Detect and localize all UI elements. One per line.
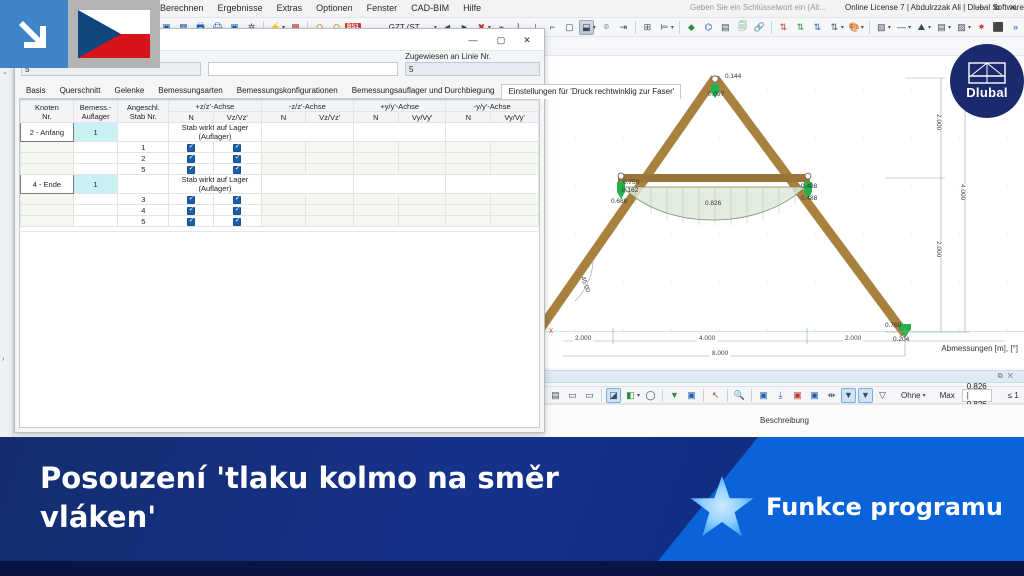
cell-check-pz-n[interactable] <box>169 142 214 153</box>
menu-item-cad-bim[interactable]: CAD-BIM <box>411 3 449 13</box>
axis-chevron-down-icon[interactable]: ▾ <box>841 24 844 31</box>
cell-empty <box>446 164 491 175</box>
toolbar-separator <box>662 389 663 402</box>
banner-title: Posouzení 'tlaku kolmo na směr vláken' <box>40 459 640 537</box>
solid-icon[interactable]: ▢ <box>562 20 577 35</box>
results-min-icon[interactable]: ▣ <box>807 388 822 403</box>
cell-empty <box>491 164 539 175</box>
settings-grid: Knoten Nr. Bemess.- Auflager Angeschl. S… <box>20 100 539 232</box>
cell-empty <box>446 123 539 142</box>
color-picker-icon[interactable]: 🎨 <box>847 20 862 35</box>
cell-support[interactable]: 1 <box>73 123 118 142</box>
dialog-tab-bar: Basis Querschnitt Gelenke Bemessungsarte… <box>19 82 540 99</box>
col-plus-y-achse: +y/y'-Achse <box>354 101 446 112</box>
surface-icon[interactable]: ⌐ <box>545 20 560 35</box>
axis-all-icon[interactable]: ⇅ <box>827 20 842 35</box>
dlubal-truss-icon <box>967 62 1007 84</box>
cell-member[interactable]: 5 <box>118 164 169 175</box>
star-icon <box>686 473 758 543</box>
cell-empty <box>261 153 306 164</box>
field-name <box>208 51 398 81</box>
cell-check-pz-n[interactable] <box>169 205 214 216</box>
arrow-overlay-box <box>0 0 68 68</box>
cell-empty <box>398 216 446 227</box>
cell-empty <box>261 194 306 205</box>
vertical-dimension-lines <box>885 78 969 332</box>
result-label-right-node: 0.488 <box>801 183 817 190</box>
cell-empty <box>306 216 354 227</box>
col-mz-n: N <box>261 112 306 123</box>
table-row[interactable]: 5 <box>21 164 539 175</box>
results-diagram-icon[interactable]: ▭ <box>565 388 580 403</box>
grid-body: 2 - Anfang 1 Stab wirkt auf Lager (Aufla… <box>21 123 539 232</box>
dimension-right-span: 2.000 <box>843 335 863 342</box>
cell-empty <box>446 205 491 216</box>
table-row[interactable]: 1 <box>21 142 539 153</box>
checkbox-checked-icon[interactable] <box>233 155 241 163</box>
design-support-dialog[interactable]: — ▢ ✕ 5 Zugewiesen an Linie Nr. 5 <box>14 28 545 433</box>
group-icon[interactable]: ⛰ <box>914 20 929 35</box>
checkbox-checked-icon[interactable] <box>187 207 195 215</box>
col-pz-n: N <box>169 112 214 123</box>
axis-z-icon[interactable]: ⇅ <box>810 20 825 35</box>
display-chevron-down-icon[interactable]: ▾ <box>888 24 891 31</box>
dialog-minimize-button[interactable]: — <box>460 32 486 48</box>
material-icon[interactable]: ◆ <box>684 20 699 35</box>
checkbox-checked-icon[interactable] <box>187 144 195 152</box>
toolbar-separator <box>751 389 752 402</box>
tab-druck-rechtwinklig-zur-faser[interactable]: Einstellungen für 'Druck rechtwinklig zu… <box>501 84 681 99</box>
cell-empty <box>398 194 446 205</box>
menu-item-extras[interactable]: Extras <box>277 3 303 13</box>
cell-empty <box>261 175 353 194</box>
results-iso-icon[interactable]: ◯ <box>643 388 658 403</box>
table-row[interactable]: 3 <box>21 194 539 205</box>
results-pick-icon[interactable]: ↖ <box>708 388 723 403</box>
cell-node <box>21 205 74 216</box>
left-dock-strip[interactable]: › ⌄ › <box>0 56 14 437</box>
thickness-icon[interactable]: ▤ <box>718 20 733 35</box>
cell-empty <box>354 123 446 142</box>
color-chevron-down-icon[interactable]: ▾ <box>861 24 864 31</box>
tab-gelenke[interactable]: Gelenke <box>107 83 151 98</box>
checkbox-checked-icon[interactable] <box>187 196 195 204</box>
col-angeschl-stab: Angeschl. Stab Nr. <box>118 101 169 123</box>
copy-model-icon[interactable]: 🗐 <box>735 20 750 35</box>
cell-empty <box>491 153 539 164</box>
cell-member[interactable]: 5 <box>118 216 169 227</box>
checkbox-checked-icon[interactable] <box>233 218 241 226</box>
cell-empty <box>491 194 539 205</box>
support-chevron-down-icon[interactable]: ▾ <box>593 24 596 31</box>
cell-empty <box>354 153 399 164</box>
axis-x-icon[interactable]: ⇅ <box>776 20 791 35</box>
dimension-upper-height: 2.000 <box>935 114 942 130</box>
render-solid-icon[interactable]: ⬛ <box>991 20 1006 35</box>
cell-check-pz-n[interactable] <box>169 164 214 175</box>
checkbox-checked-icon[interactable] <box>233 144 241 152</box>
dimension-total-height: 4.000 <box>959 184 966 200</box>
cell-member[interactable]: 4 <box>118 205 169 216</box>
filter-view-icon[interactable]: ▨ <box>954 20 969 35</box>
toolbar-separator <box>601 389 602 402</box>
results-toolbar: ▤ ▭ ▭ ◪ ◧ ▾ ◯ ▼ ▣ ↖ 🔍 ▣ ⤓ ▣ ▣ ⇹ ▼ ▼ ▽ Oh… <box>545 386 1024 404</box>
cell-member[interactable]: 1 <box>118 142 169 153</box>
rfem-main-window: Berechnen Ergebnisse Extras Optionen Fen… <box>0 0 1024 437</box>
result-label-ridge-bottom: 0.097 <box>708 91 724 98</box>
cell-member[interactable]: 3 <box>118 194 169 205</box>
menu-item-berechnen[interactable]: Berechnen <box>160 3 204 13</box>
results-filter-none-icon[interactable]: ▽ <box>875 388 890 403</box>
results-colorscale-icon[interactable]: ◧ <box>623 388 638 403</box>
cell-support[interactable]: 1 <box>73 175 118 194</box>
field-assigned-line-input[interactable]: 5 <box>405 62 540 76</box>
description-bar: Beschreibung <box>545 404 1024 437</box>
col-plus-z-achse: +z/z'-Achse <box>169 101 261 112</box>
display-mode-icon[interactable]: ▧ <box>874 20 889 35</box>
results-colorscale-chevron-down-icon[interactable]: ▾ <box>637 392 640 399</box>
field-assigned-line: Zugewiesen an Linie Nr. 5 <box>405 51 540 81</box>
cell-support <box>73 153 118 164</box>
cell-empty <box>354 142 399 153</box>
flag-overlay-box <box>68 0 160 68</box>
flag-blue-triangle <box>78 10 121 58</box>
results-extreme-icon[interactable]: ⤓ <box>773 388 788 403</box>
tab-bemessungsauflager-durchbiegung[interactable]: Bemessungsauflager und Durchbiegung <box>345 83 502 98</box>
results-filter-icon[interactable]: ▼ <box>667 388 682 403</box>
czech-flag-icon <box>78 10 150 58</box>
table-row[interactable]: 4 - Ende 1 Stab wirkt auf Lager (Auflage… <box>21 175 539 194</box>
checkbox-checked-icon[interactable] <box>233 166 241 174</box>
cell-node[interactable]: 2 - Anfang <box>21 123 74 142</box>
dimension-total-span: 8.000 <box>710 350 730 357</box>
table-row[interactable]: 4 <box>21 205 539 216</box>
arrow-down-right-icon <box>15 15 53 53</box>
cell-support <box>73 216 118 227</box>
cell-support <box>73 194 118 205</box>
field-name-input[interactable] <box>208 62 398 76</box>
result-label-midspan: 0.826 <box>705 200 721 207</box>
results-filter-settings-icon[interactable]: ▣ <box>684 388 699 403</box>
result-label-base-right-a: 0.760 <box>885 322 901 329</box>
cell-node <box>21 153 74 164</box>
tab-bemessungsarten[interactable]: Bemessungsarten <box>151 83 229 98</box>
cell-empty <box>261 123 353 142</box>
screenshot-root: Berechnen Ergebnisse Extras Optionen Fen… <box>0 0 1024 576</box>
toolbar-separator <box>679 21 680 34</box>
table-row[interactable]: 2 <box>21 153 539 164</box>
col-minus-z-achse: -z/z'-Achse <box>261 101 353 112</box>
dock-expand-bottom-icon[interactable]: › <box>2 356 4 363</box>
checkbox-checked-icon[interactable] <box>233 207 241 215</box>
cell-check-pz-v[interactable] <box>213 194 261 205</box>
filter-chevron-down-icon[interactable]: ▾ <box>968 24 971 31</box>
results-mode-selector[interactable]: Ohne <box>897 391 925 400</box>
cell-empty <box>261 142 306 153</box>
banner-subtitle: Funkce programu <box>766 493 1003 521</box>
cell-empty <box>354 194 399 205</box>
axis-y-icon[interactable]: ⇅ <box>793 20 808 35</box>
cell-empty <box>354 205 399 216</box>
panel-controls[interactable]: ⧉✕ <box>998 373 1018 381</box>
dialog-close-button[interactable]: ✕ <box>514 32 540 48</box>
dimension-mid-span: 4.000 <box>697 335 717 342</box>
col-mz-vz: Vz/Vz' <box>306 112 354 123</box>
dock-collapse-icon[interactable]: ⌄ <box>2 68 8 76</box>
toolbar-separator <box>869 21 870 34</box>
dimension-chevron-down-icon[interactable]: ▾ <box>671 24 674 31</box>
cell-empty <box>491 216 539 227</box>
results-graphic-icon[interactable]: ◪ <box>606 388 621 403</box>
cell-support <box>73 205 118 216</box>
results-section-icon[interactable]: ▭ <box>582 388 597 403</box>
results-max-icon[interactable]: ▣ <box>790 388 805 403</box>
cell-check-pz-n[interactable] <box>169 194 214 205</box>
visibility-icon[interactable]: ▤ <box>934 20 949 35</box>
result-label-base-right-b: 0.204 <box>893 336 909 343</box>
results-search-icon[interactable]: 🔍 <box>732 388 747 403</box>
cell-support <box>73 142 118 153</box>
results-value-icon[interactable]: ▣ <box>756 388 771 403</box>
col-my-vy: Vy/Vy' <box>491 112 539 123</box>
field-name-label <box>208 51 398 62</box>
cell-check-pz-n[interactable] <box>169 216 214 227</box>
table-row[interactable]: 2 - Anfang 1 Stab wirkt auf Lager (Aufla… <box>21 123 539 142</box>
dlubal-logo: Dlubal <box>950 44 1024 118</box>
tab-basis[interactable]: Basis <box>19 83 53 98</box>
support-settings-table[interactable]: Knoten Nr. Bemess.- Auflager Angeschl. S… <box>19 99 540 428</box>
cell-empty <box>398 142 446 153</box>
panel-splitter[interactable]: ⧉✕ <box>545 370 1024 383</box>
dimension-icon[interactable]: ⊨ <box>657 20 672 35</box>
cell-empty <box>306 194 354 205</box>
more-tools-icon[interactable]: » <box>1008 20 1023 35</box>
cell-support <box>73 164 118 175</box>
quick-search-input[interactable]: Geben Sie ein Schlüsselwort ein (Alt... <box>690 3 830 15</box>
cell-empty <box>446 175 539 194</box>
menu-item-ergebnisse[interactable]: Ergebnisse <box>218 3 263 13</box>
col-my-n: N <box>446 112 491 123</box>
line-style-icon[interactable]: — <box>894 20 909 35</box>
cell-empty <box>261 205 306 216</box>
col-knoten-nr: Knoten Nr. <box>21 101 74 123</box>
cell-node <box>21 216 74 227</box>
col-bemess-auflager: Bemess.- Auflager <box>73 101 118 123</box>
cell-check-pz-n[interactable] <box>169 153 214 164</box>
cell-empty <box>446 142 491 153</box>
hinge-icon[interactable]: ⌾ <box>599 20 614 35</box>
table-row[interactable]: 5 <box>21 216 539 227</box>
checkbox-checked-icon[interactable] <box>233 196 241 204</box>
tab-bemessungskonfigurationen[interactable]: Bemessungskonfigurationen <box>230 83 345 98</box>
tab-querschnitt[interactable]: Querschnitt <box>53 83 108 98</box>
menu-item-fenster[interactable]: Fenster <box>367 3 398 13</box>
col-pz-vz: Vz/Vz' <box>213 112 261 123</box>
cell-empty <box>306 164 354 175</box>
cell-empty <box>354 175 446 194</box>
toolbar-separator <box>635 21 636 34</box>
dimension-left-span: 2.000 <box>573 335 593 342</box>
results-table-icon[interactable]: ▤ <box>548 388 563 403</box>
model-viewport[interactable]: x <box>545 56 1024 368</box>
toolbar-separator <box>771 21 772 34</box>
grid-header-row-1: Knoten Nr. Bemess.- Auflager Angeschl. S… <box>21 101 539 112</box>
cell-empty <box>446 194 491 205</box>
cell-check-pz-v[interactable] <box>213 153 261 164</box>
cell-empty <box>446 216 491 227</box>
cell-empty <box>398 164 446 175</box>
menu-item-list: Berechnen Ergebnisse Extras Optionen Fen… <box>160 3 481 13</box>
dialog-maximize-button[interactable]: ▢ <box>488 32 514 48</box>
description-title: Beschreibung <box>545 416 1024 425</box>
col-py-n: N <box>354 112 399 123</box>
cell-node <box>21 194 74 205</box>
checkbox-checked-icon[interactable] <box>187 218 195 226</box>
checkbox-checked-icon[interactable] <box>187 166 195 174</box>
cell-check-pz-v[interactable] <box>213 164 261 175</box>
cell-empty <box>306 153 354 164</box>
menu-item-optionen[interactable]: Optionen <box>316 3 353 13</box>
col-py-vy: Vy/Vy' <box>398 112 446 123</box>
results-max-value: 0.826 | 0.826 <box>962 389 992 402</box>
cell-empty <box>491 205 539 216</box>
cell-empty <box>354 164 399 175</box>
grid-head: Knoten Nr. Bemess.- Auflager Angeschl. S… <box>21 101 539 123</box>
result-label-left-node-b: 0.162 <box>622 187 638 194</box>
table-row[interactable] <box>21 227 539 232</box>
cell-empty <box>354 216 399 227</box>
section-icon[interactable]: ⌬ <box>701 20 716 35</box>
results-limit-label: ≤ 1 <box>1004 391 1023 400</box>
cell-check-pz-v[interactable] <box>213 205 261 216</box>
nodal-release-icon[interactable]: ⇥ <box>616 20 631 35</box>
cell-empty <box>306 142 354 153</box>
cell-check-pz-v[interactable] <box>213 216 261 227</box>
results-scale-icon[interactable]: ⇹ <box>824 388 839 403</box>
results-filter-max-icon[interactable]: ▼ <box>841 388 856 403</box>
mesh-icon[interactable]: ⊞ <box>640 20 655 35</box>
cell-spacer <box>21 227 539 232</box>
cell-node[interactable]: 4 - Ende <box>21 175 74 194</box>
result-label-right-support: 0.488 <box>801 195 817 202</box>
cell-empty <box>398 205 446 216</box>
result-label-ridge-top: 0.144 <box>725 73 741 80</box>
results-max-label: Max <box>936 391 959 400</box>
cell-empty <box>261 164 306 175</box>
results-mode-chevron-down-icon[interactable]: ▾ <box>923 392 926 399</box>
cell-empty <box>491 142 539 153</box>
cell-member <box>118 175 169 194</box>
dimension-lower-height: 2.000 <box>935 241 942 257</box>
menu-item-hilfe[interactable]: Hilfe <box>463 3 481 13</box>
cell-check-pz-v[interactable] <box>213 142 261 153</box>
clear-selection-icon[interactable]: ✷ <box>974 20 989 35</box>
col-minus-y-achse: -y/y'-Achse <box>446 101 539 112</box>
result-label-left-node-a: 0.750 <box>623 179 639 186</box>
results-filter-range-icon[interactable]: ▼ <box>858 388 873 403</box>
checkbox-checked-icon[interactable] <box>187 155 195 163</box>
support-icon[interactable]: ⬓ <box>579 20 594 35</box>
truss-model-svg <box>545 56 1024 368</box>
bottom-banner: Posouzení 'tlaku kolmo na směr vláken' F… <box>0 437 1024 576</box>
visibility-chevron-down-icon[interactable]: ▾ <box>948 24 951 31</box>
cell-empty <box>261 216 306 227</box>
toolbar-separator <box>727 389 728 402</box>
group-chevron-down-icon[interactable]: ▾ <box>928 24 931 31</box>
toolbar-separator <box>703 389 704 402</box>
dimension-unit-note: Abmessungen [m], [°] <box>941 344 1018 353</box>
dlubal-logo-text: Dlubal <box>966 85 1008 100</box>
cell-empty <box>446 153 491 164</box>
result-label-left-support: 0.688 <box>611 198 627 205</box>
field-assigned-line-label: Zugewiesen an Linie Nr. <box>405 51 540 62</box>
line-style-chevron-down-icon[interactable]: ▾ <box>908 24 911 31</box>
cell-member[interactable]: 2 <box>118 153 169 164</box>
cell-node <box>21 142 74 153</box>
cell-empty <box>306 205 354 216</box>
cell-support-message: Stab wirkt auf Lager (Auflager) <box>169 175 261 194</box>
window-controls[interactable]: — ⧉ ✕ <box>976 3 1020 13</box>
cell-empty <box>398 153 446 164</box>
banner-bottom-strip <box>0 561 1024 576</box>
cell-member <box>118 123 169 142</box>
cell-support-message: Stab wirkt auf Lager (Auflager) <box>169 123 261 142</box>
link-icon[interactable]: 🔗 <box>752 20 767 35</box>
cell-node <box>21 164 74 175</box>
